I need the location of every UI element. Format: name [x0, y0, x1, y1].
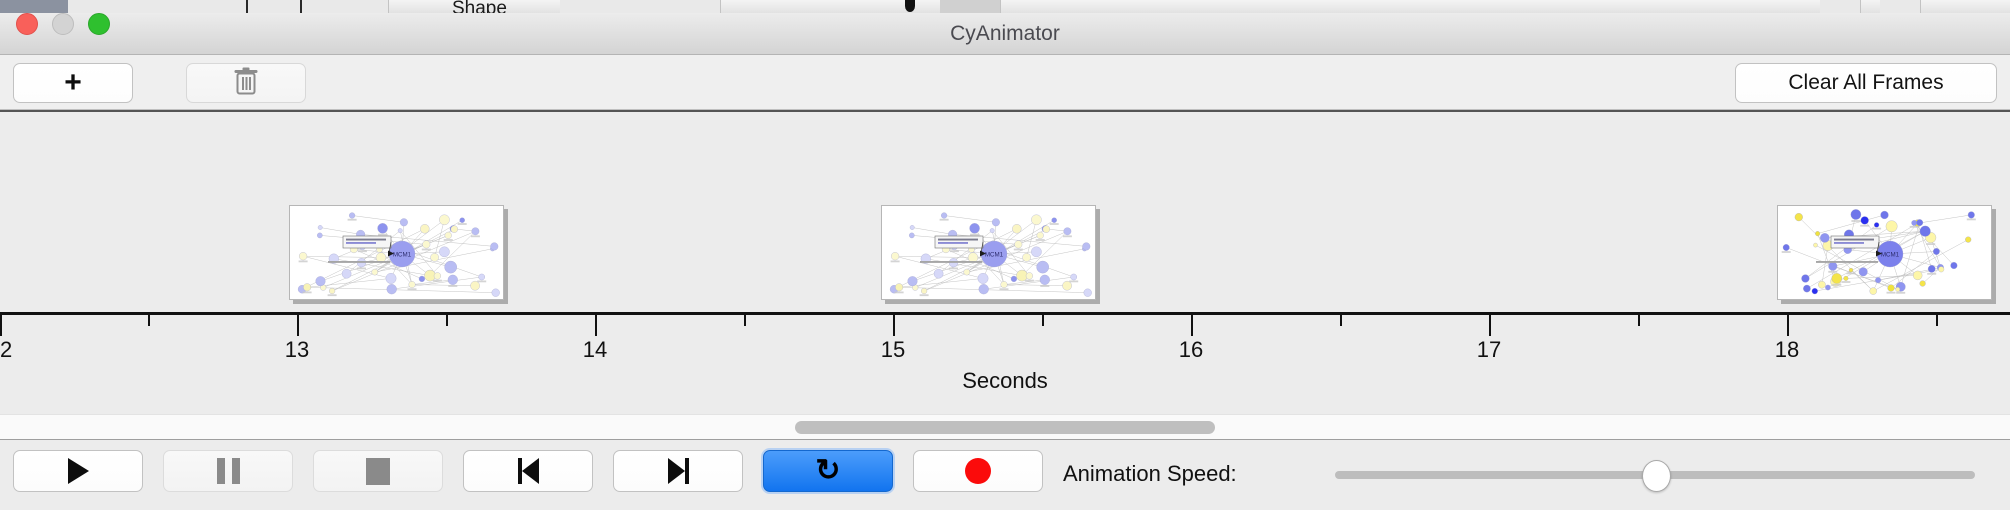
skip-start-button[interactable] [463, 450, 593, 492]
maximize-button[interactable] [88, 13, 110, 35]
axis-tick-label: 17 [1477, 337, 1501, 363]
background-tick [300, 0, 302, 13]
axis-tick-minor [1936, 315, 1938, 326]
axis-tick-minor [446, 315, 448, 326]
playback-toolbar: ↻ Animation Speed: [0, 441, 2010, 510]
close-button[interactable] [16, 13, 38, 35]
axis-tick-major [297, 315, 299, 336]
stop-icon [366, 458, 390, 485]
stop-button[interactable] [313, 450, 443, 492]
record-icon [965, 458, 991, 484]
minimize-button[interactable] [52, 13, 74, 35]
timeline-frame-thumbnail[interactable]: MCM1 [881, 205, 1096, 300]
timeline-axis: 12131415161718 Seconds [0, 312, 2010, 414]
axis-tick-minor [1340, 315, 1342, 326]
axis-tick-major [1787, 315, 1789, 336]
play-button[interactable] [13, 450, 143, 492]
axis-tick-minor [1638, 315, 1640, 326]
plus-icon: + [64, 68, 82, 98]
svg-text:MCM1: MCM1 [393, 252, 412, 259]
title-bar: CyAnimator [0, 13, 2010, 55]
background-window-label: Shape [452, 0, 507, 13]
background-tick [246, 0, 248, 13]
axis-tick-major [595, 315, 597, 336]
window-title: CyAnimator [0, 13, 2010, 55]
trash-icon [233, 66, 259, 101]
cyanimator-window: Shape CyAnimator + [0, 0, 2010, 510]
background-segment [1880, 0, 1921, 13]
background-window-accent [0, 0, 68, 13]
axis-tick-major [1191, 315, 1193, 336]
axis-tick-major [1489, 315, 1491, 336]
svg-text:MCM1: MCM1 [985, 252, 1004, 259]
background-segment [940, 0, 1001, 13]
background-segment [1820, 0, 1861, 13]
loop-button[interactable]: ↻ [763, 450, 893, 492]
loop-icon: ↻ [815, 456, 840, 486]
timeline-frame-thumbnail[interactable]: MCM1 [1777, 205, 1992, 300]
frame-toolbar: + Clear All Frames [0, 55, 2010, 110]
animation-speed-slider-knob[interactable] [1642, 460, 1671, 492]
animation-speed-label: Animation Speed: [1063, 461, 1237, 487]
animation-speed-slider[interactable] [1335, 471, 1975, 479]
pause-icon [217, 458, 240, 484]
skip-forward-icon [668, 458, 689, 484]
play-icon [68, 458, 89, 484]
background-segment [560, 0, 721, 13]
timeline-panel[interactable]: MCM1MCM1MCM1 12131415161718 Seconds [0, 110, 2010, 414]
record-button[interactable] [913, 450, 1043, 492]
timeline-frame-thumbnail[interactable]: MCM1 [289, 205, 504, 300]
clear-all-frames-label: Clear All Frames [1788, 71, 1943, 95]
window-controls [16, 13, 110, 35]
axis-line [0, 312, 2010, 315]
axis-tick-label: 13 [285, 337, 309, 363]
add-frame-button[interactable]: + [13, 63, 133, 103]
axis-tick-minor [744, 315, 746, 326]
axis-tick-minor [1042, 315, 1044, 326]
delete-frame-button[interactable] [186, 63, 306, 103]
axis-tick-label: 15 [881, 337, 905, 363]
background-segment [188, 0, 309, 13]
pause-button[interactable] [163, 450, 293, 492]
scrollbar-thumb[interactable] [795, 421, 1215, 434]
axis-tick-label: 18 [1775, 337, 1799, 363]
svg-text:MCM1: MCM1 [1881, 252, 1900, 259]
background-blob [905, 0, 915, 12]
axis-tick-major [893, 315, 895, 336]
timeline-top-border [0, 110, 2010, 112]
background-window-strip: Shape [0, 0, 2010, 13]
axis-tick-label: 16 [1179, 337, 1203, 363]
clear-all-frames-button[interactable]: Clear All Frames [1735, 63, 1997, 103]
axis-tick-major [0, 315, 2, 336]
axis-tick-label: 14 [583, 337, 607, 363]
axis-title: Seconds [0, 368, 2010, 394]
background-segment [68, 0, 189, 13]
axis-tick-label: 12 [0, 337, 12, 363]
axis-tick-minor [148, 315, 150, 326]
timeline-scrollbar[interactable] [0, 414, 2010, 440]
background-segment [308, 0, 389, 13]
skip-end-button[interactable] [613, 450, 743, 492]
skip-back-icon [518, 458, 539, 484]
